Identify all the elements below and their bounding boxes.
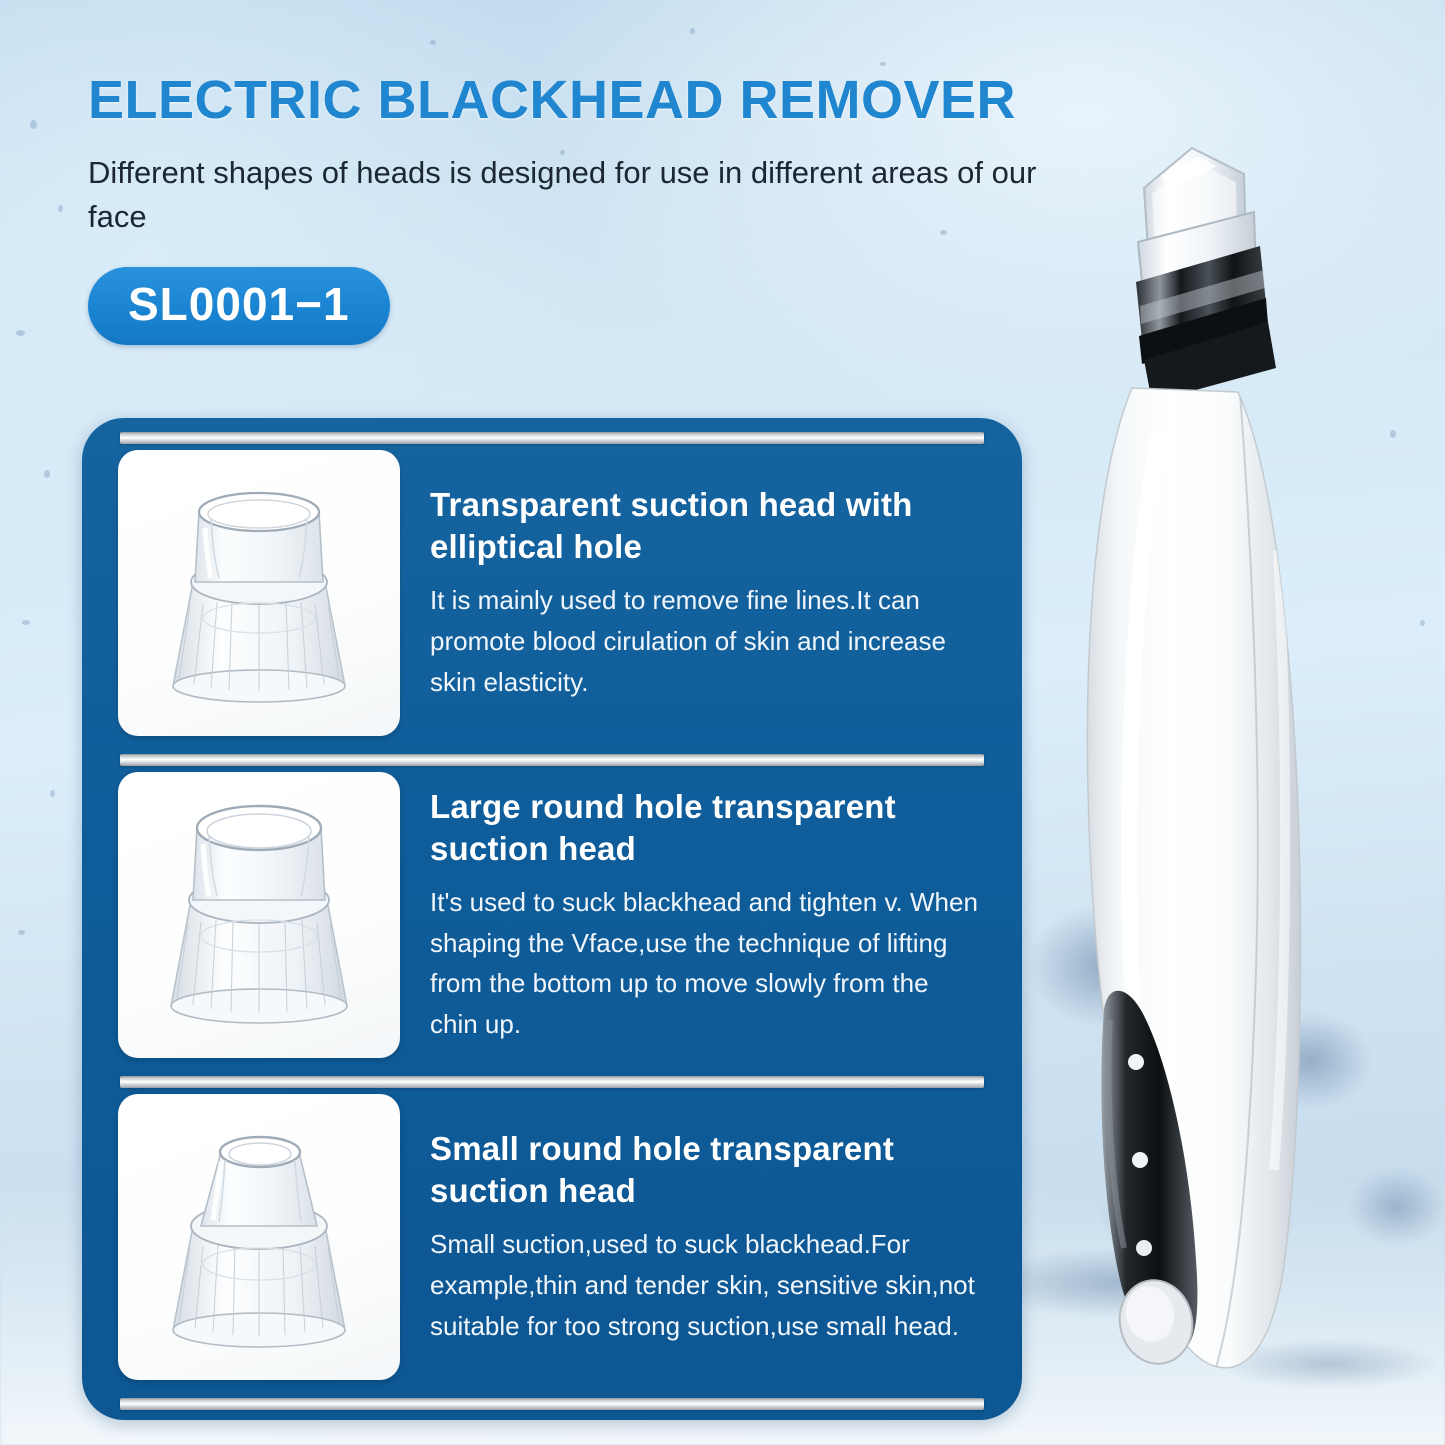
elliptical-hole-head-icon bbox=[149, 478, 369, 708]
feature-text-3: Small round hole transparent suction hea… bbox=[430, 1128, 986, 1346]
suction-head-image-3 bbox=[118, 1094, 400, 1380]
divider-1 bbox=[120, 754, 984, 766]
water-droplet bbox=[430, 40, 436, 45]
water-droplet bbox=[1390, 430, 1396, 438]
feature-heading: Small round hole transparent suction hea… bbox=[430, 1128, 978, 1212]
device-illustration bbox=[1040, 130, 1370, 1405]
model-number-badge: SL0001−1 bbox=[88, 267, 390, 345]
feature-body: It's used to suck blackhead and tighten … bbox=[430, 882, 978, 1044]
water-droplet bbox=[880, 62, 886, 66]
large-round-hole-head-icon bbox=[149, 800, 369, 1030]
page-title: ELECTRIC BLACKHEAD REMOVER bbox=[88, 72, 1098, 129]
divider-2 bbox=[120, 1076, 984, 1088]
feature-body: It is mainly used to remove fine lines.I… bbox=[430, 580, 978, 702]
water-droplet bbox=[1420, 620, 1425, 626]
page-subtitle: Different shapes of heads is designed fo… bbox=[88, 151, 1038, 239]
water-droplet bbox=[44, 470, 50, 478]
feature-item: Transparent suction head with elliptical… bbox=[110, 444, 994, 740]
suction-head-image-2 bbox=[118, 772, 400, 1058]
suction-head-image-1 bbox=[118, 450, 400, 736]
feature-item: Large round hole transparent suction hea… bbox=[110, 766, 994, 1062]
feature-item: Small round hole transparent suction hea… bbox=[110, 1088, 994, 1384]
water-droplet bbox=[58, 205, 63, 212]
feature-heading: Large round hole transparent suction hea… bbox=[430, 786, 978, 870]
feature-heading: Transparent suction head with elliptical… bbox=[430, 484, 978, 568]
features-panel: Transparent suction head with elliptical… bbox=[82, 418, 1022, 1420]
feature-text-1: Transparent suction head with elliptical… bbox=[430, 484, 986, 702]
led-indicator-1 bbox=[1128, 1054, 1144, 1070]
led-indicator-3 bbox=[1136, 1240, 1152, 1256]
feature-text-2: Large round hole transparent suction hea… bbox=[430, 786, 986, 1045]
divider-bottom bbox=[120, 1398, 984, 1410]
divider-top bbox=[120, 432, 984, 444]
water-droplet bbox=[22, 620, 30, 625]
header: ELECTRIC BLACKHEAD REMOVER Different sha… bbox=[88, 72, 1098, 345]
water-droplet bbox=[690, 28, 695, 34]
water-droplet bbox=[18, 930, 25, 935]
small-round-hole-head-icon bbox=[149, 1122, 369, 1352]
water-droplet bbox=[16, 330, 25, 336]
water-droplet bbox=[30, 120, 37, 129]
blackhead-remover-device bbox=[1040, 130, 1370, 1405]
feature-body: Small suction,used to suck blackhead.For… bbox=[430, 1224, 978, 1346]
water-droplet bbox=[50, 790, 55, 797]
led-indicator-2 bbox=[1132, 1152, 1148, 1168]
